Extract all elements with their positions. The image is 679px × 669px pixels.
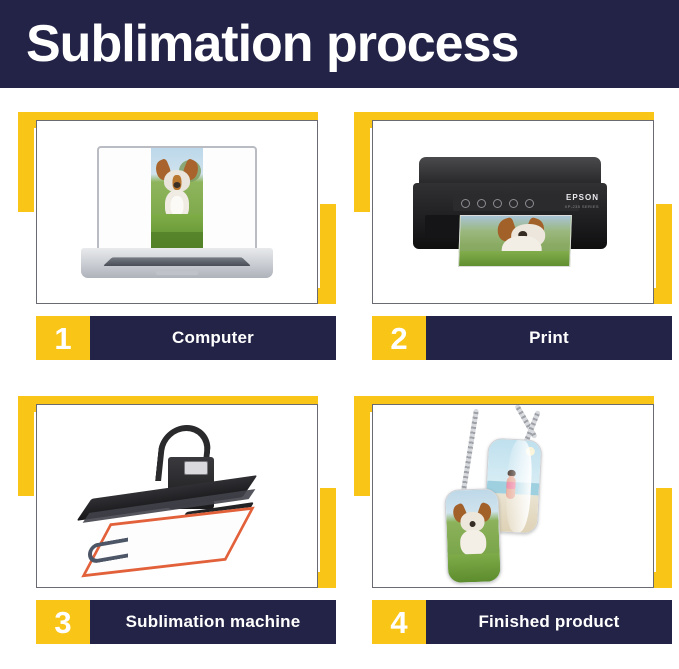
page-header: Sublimation process xyxy=(0,0,679,88)
printer-model-label: XP-235 SERIES xyxy=(565,204,599,209)
printer-control-panel xyxy=(453,195,579,211)
step-2-label: Print xyxy=(426,316,672,360)
step-4-label: Finished product xyxy=(426,600,672,644)
heat-press-display xyxy=(184,461,208,475)
printed-photo xyxy=(458,215,572,267)
step-2-number: 2 xyxy=(372,316,426,360)
dog-tag-dog-photo xyxy=(444,488,501,584)
step-card-2: EPSON XP-235 SERIES xyxy=(354,104,672,360)
dog-tags-icon xyxy=(418,405,608,587)
step-3-image-frame xyxy=(36,404,318,588)
printer-icon: EPSON XP-235 SERIES xyxy=(413,153,613,271)
printer-button xyxy=(477,199,486,208)
laptop-keyboard xyxy=(103,257,251,266)
step-4-number: 4 xyxy=(372,600,426,644)
infographic-sheet: Sublimation process xyxy=(0,0,679,669)
step-3-label: Sublimation machine xyxy=(90,600,336,644)
dog-photo-on-screen xyxy=(151,148,203,248)
step-card-3: 3 Sublimation machine xyxy=(18,388,336,644)
step-2-image-frame: EPSON XP-235 SERIES xyxy=(372,120,654,304)
page-title: Sublimation process xyxy=(0,18,518,70)
step-4-image-frame xyxy=(372,404,654,588)
step-3-number: 3 xyxy=(36,600,90,644)
step-2-label-bar: 2 Print xyxy=(372,316,672,360)
step-1-image-frame xyxy=(36,120,318,304)
printer-button xyxy=(509,199,518,208)
printer-brand-logo: EPSON xyxy=(566,193,599,202)
step-3-label-bar: 3 Sublimation machine xyxy=(36,600,336,644)
heat-press-icon xyxy=(72,421,282,571)
step-card-1: 1 Computer xyxy=(18,104,336,360)
step-1-label: Computer xyxy=(90,316,336,360)
step-1-number: 1 xyxy=(36,316,90,360)
step-1-label-bar: 1 Computer xyxy=(36,316,336,360)
step-4-label-bar: 4 Finished product xyxy=(372,600,672,644)
ball-chain xyxy=(460,409,479,497)
step-card-4: 4 Finished product xyxy=(354,388,672,644)
printer-button xyxy=(525,199,534,208)
laptop-trackpad xyxy=(156,271,198,275)
laptop-icon xyxy=(81,146,273,278)
laptop-screen xyxy=(97,146,257,250)
printer-power-button xyxy=(461,199,470,208)
laptop-base xyxy=(81,248,273,278)
printer-button xyxy=(493,199,502,208)
